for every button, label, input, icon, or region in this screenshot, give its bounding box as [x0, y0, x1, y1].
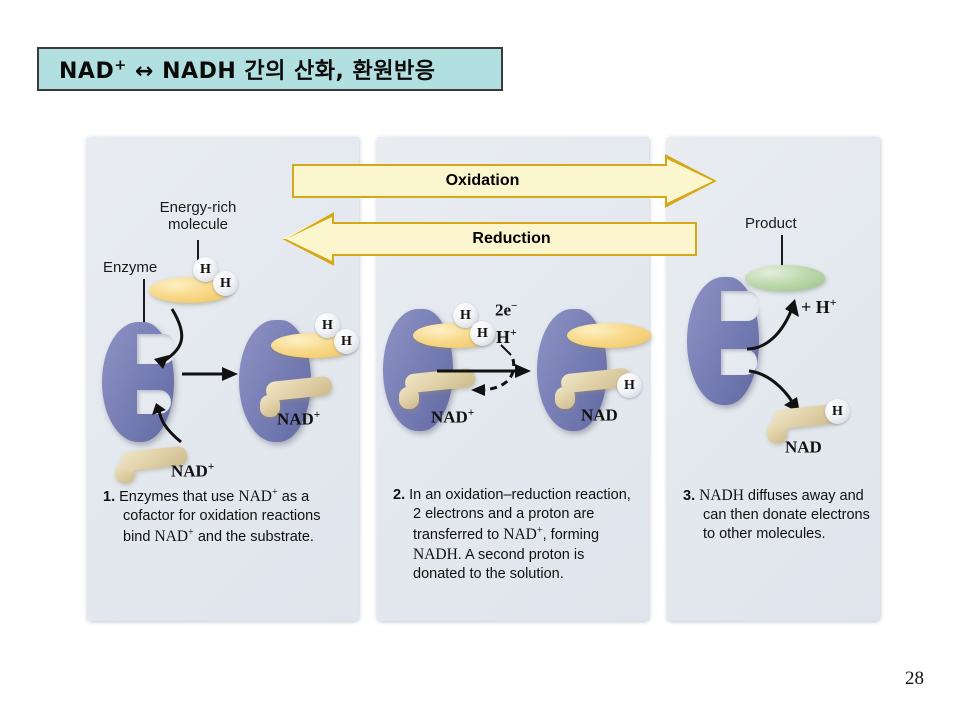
oxidation-arrow-label: Oxidation — [446, 172, 520, 190]
page-title: NAD+ ↔ NADH 간의 산화, 환원반응 — [59, 53, 436, 85]
two-electrons-annotation: 2e− — [495, 300, 517, 321]
panel-3-caption: 3. NADH diffuses away and can then donat… — [683, 486, 873, 544]
nad-right-label: NAD — [581, 405, 618, 426]
page-number: 28 — [905, 668, 924, 690]
title-superscript: + — [114, 58, 127, 74]
panel-3: Product + H+ H NAD — [667, 137, 880, 621]
caption-text: Enzymes that use NAD+ as a cofactor for … — [119, 489, 320, 545]
enzyme-label: Enzyme — [103, 259, 157, 276]
label-line-1: Energy-rich — [160, 199, 237, 216]
electron-transfer-arrows — [435, 333, 540, 413]
nad-free-label: NAD+ — [171, 461, 214, 482]
panel-2: H H 2e− H+ NAD+ — [377, 137, 649, 621]
caption-number: 2. — [393, 487, 405, 503]
nad-bound-label: NAD+ — [277, 409, 320, 430]
reaction-arrow — [182, 365, 240, 383]
panel-2-caption: 2. In an oxidation–reduction reaction, 2… — [393, 486, 639, 584]
label-line-1: Enzyme — [103, 259, 157, 276]
slide-title-box: NAD+ ↔ NADH 간의 산화, 환원반응 — [37, 47, 503, 91]
caption-number: 1. — [103, 489, 115, 505]
h-atom-icon: H — [334, 329, 359, 354]
h-atom-icon: H — [825, 399, 850, 424]
bound-substrate-shape — [567, 323, 651, 348]
energy-rich-molecule-label: Energy-rich molecule — [143, 199, 253, 234]
figure-container: Energy-rich molecule Enzyme H H — [87, 137, 880, 621]
panel-1: Energy-rich molecule Enzyme H H — [87, 137, 359, 621]
h-atom-icon: H — [213, 271, 238, 296]
caption-text: In an oxidation–reduction reaction, 2 el… — [409, 487, 631, 582]
h-atom-icon: H — [617, 373, 642, 398]
reduction-arrow-label: Reduction — [472, 230, 550, 248]
caption-number: 3. — [683, 488, 695, 504]
panel-1-caption: 1. Enzymes that use NAD+ as a cofactor f… — [103, 486, 349, 547]
caption-text: NADH diffuses away and can then donate e… — [699, 488, 870, 542]
label-line-2: molecule — [168, 216, 228, 233]
release-arrows — [743, 277, 853, 417]
nad-released-label: NAD — [785, 437, 822, 458]
product-label: Product — [745, 215, 797, 232]
